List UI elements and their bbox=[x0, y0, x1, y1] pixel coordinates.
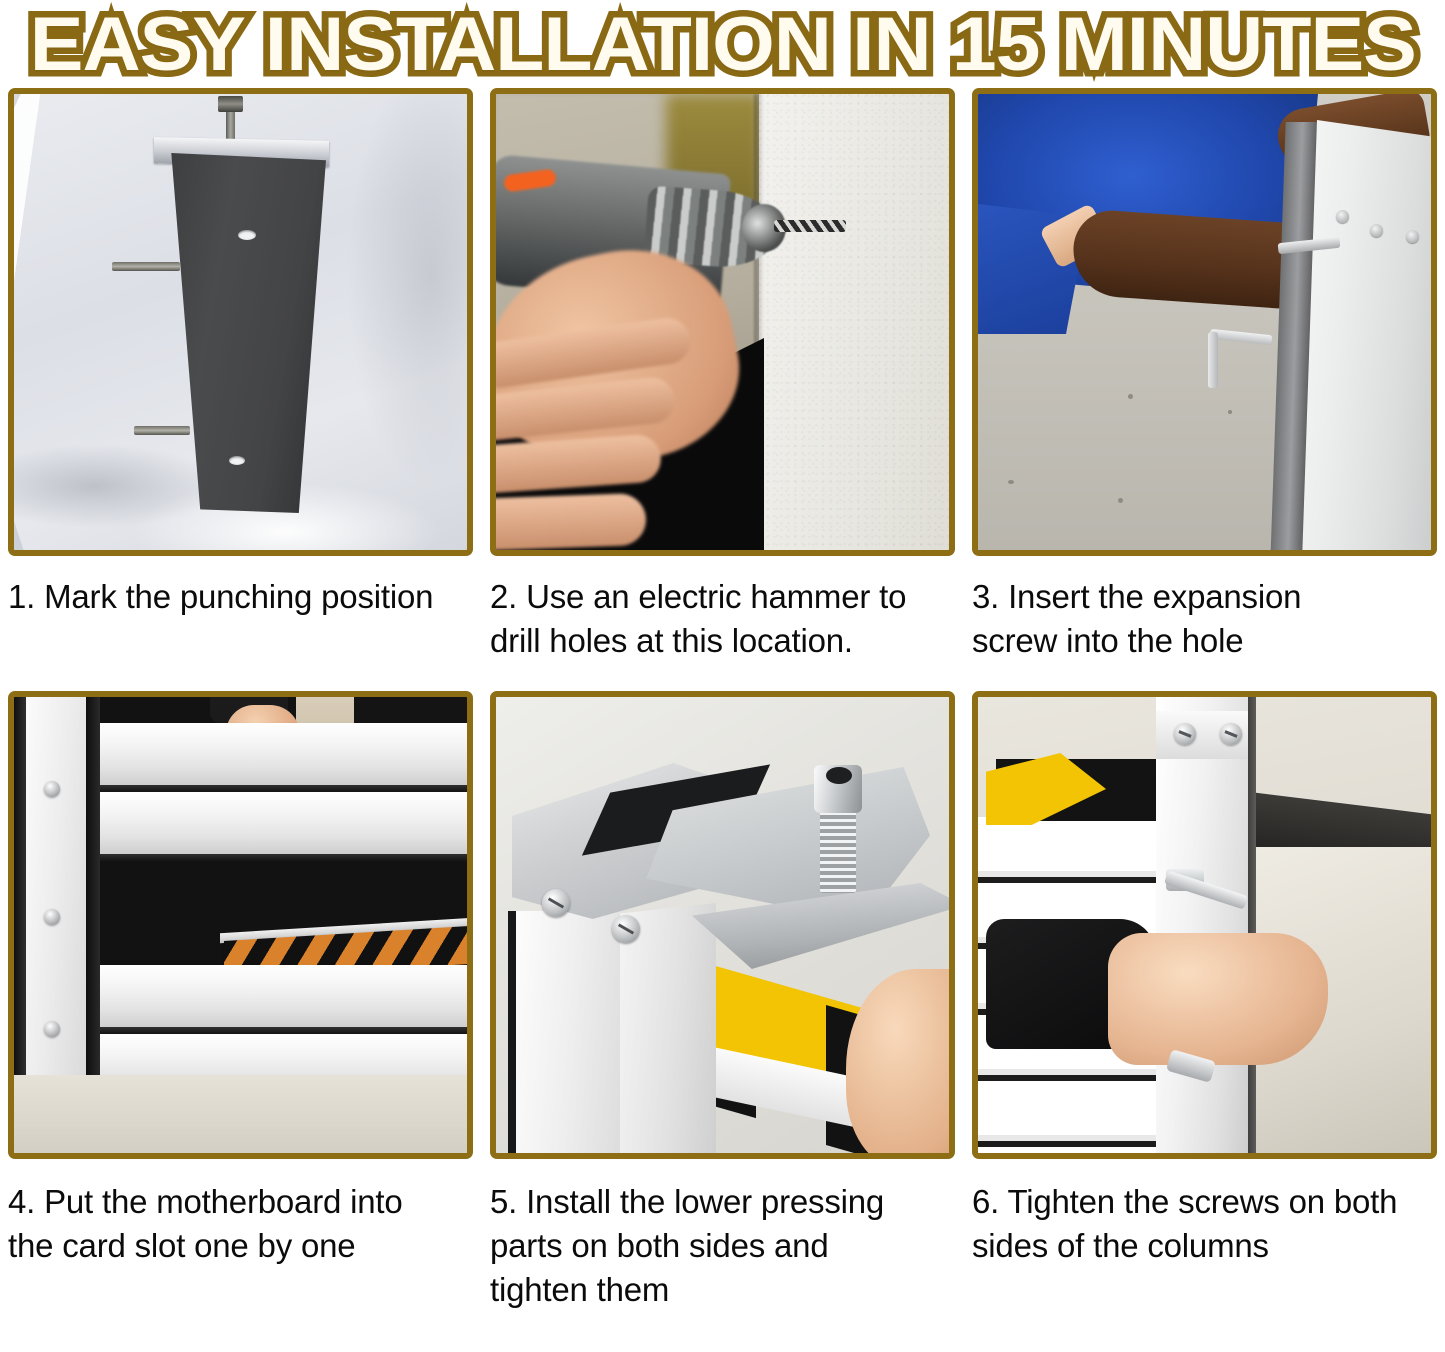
column-screw bbox=[1406, 230, 1419, 243]
board-gap-line bbox=[92, 854, 467, 861]
step-card-6: 6. Tighten the screws on both sides of t… bbox=[972, 691, 1437, 1312]
barrier-board bbox=[92, 723, 467, 785]
step-card-3: 3. Insert the expansion screw into the h… bbox=[972, 88, 1437, 663]
column-screw bbox=[1220, 723, 1242, 745]
nut-icon bbox=[218, 96, 243, 112]
step-caption-5: 5. Install the lower pressing parts on b… bbox=[490, 1180, 955, 1312]
hand-finger-4 bbox=[496, 493, 647, 550]
board-gap-line bbox=[92, 1027, 467, 1034]
step-photo-3-expansion-screw bbox=[978, 94, 1431, 550]
column-groove bbox=[508, 911, 516, 1153]
steps-grid: 1. Mark the punching position bbox=[0, 88, 1445, 1312]
step-photo-6-tighten-screws bbox=[978, 697, 1431, 1153]
template-hole-lower bbox=[229, 456, 245, 465]
step-card-2: 2. Use an electric hammer to drill holes… bbox=[490, 88, 955, 663]
bolt-socket-hole bbox=[826, 767, 852, 784]
column-screw bbox=[1370, 224, 1383, 237]
hand-tightening bbox=[1108, 933, 1328, 1065]
step-photo-frame-4 bbox=[8, 691, 473, 1159]
bolt-thread bbox=[820, 805, 856, 893]
header-banner: EASY INSTALLATION IN 15 MINUTES bbox=[0, 0, 1445, 88]
steps-row-bottom: 4. Put the motherboard into the card slo… bbox=[8, 691, 1437, 1312]
column-screw bbox=[1174, 723, 1196, 745]
step-card-5: 5. Install the lower pressing parts on b… bbox=[490, 691, 955, 1312]
step-photo-2-drilling bbox=[496, 94, 949, 550]
floor bbox=[14, 1075, 467, 1153]
step-photo-frame-1 bbox=[8, 88, 473, 556]
board-gap-line bbox=[92, 785, 467, 792]
page-title: EASY INSTALLATION IN 15 MINUTES bbox=[29, 7, 1415, 83]
column-card-slot bbox=[86, 697, 100, 1127]
step-card-1: 1. Mark the punching position bbox=[8, 88, 473, 663]
step-photo-4-boards-in-slot bbox=[14, 697, 467, 1153]
worker-arm bbox=[1070, 208, 1305, 310]
column-screw bbox=[44, 781, 60, 797]
row-spacer bbox=[8, 663, 1437, 691]
white-column-front bbox=[514, 911, 622, 1153]
drill-bit-icon bbox=[774, 220, 846, 232]
white-column-left bbox=[26, 697, 94, 1127]
template-hole-upper bbox=[238, 230, 256, 240]
step-photo-frame-3 bbox=[972, 88, 1437, 556]
step-caption-2: 2. Use an electric hammer to drill holes… bbox=[490, 575, 955, 663]
column-screw bbox=[1336, 210, 1349, 223]
step-caption-6: 6. Tighten the screws on both sides of t… bbox=[972, 1180, 1437, 1268]
white-column-side bbox=[620, 903, 716, 1153]
column-screw bbox=[44, 1021, 60, 1037]
bolt-lower bbox=[134, 426, 190, 435]
barrier-board bbox=[92, 965, 467, 1027]
step-photo-1-marking-template bbox=[14, 94, 467, 550]
step-caption-3: 3. Insert the expansion screw into the h… bbox=[972, 575, 1437, 663]
ground-speck bbox=[1128, 394, 1133, 399]
white-column bbox=[1156, 697, 1248, 1153]
step-caption-1: 1. Mark the punching position bbox=[8, 575, 473, 619]
bracket-screw bbox=[542, 889, 570, 917]
step-photo-5-pressing-bracket bbox=[496, 697, 949, 1153]
ground-speck bbox=[1118, 498, 1123, 503]
step-photo-frame-2 bbox=[490, 88, 955, 556]
textured-wall bbox=[759, 94, 949, 550]
ground-speck bbox=[1008, 480, 1014, 484]
allen-key-short-arm bbox=[1208, 332, 1218, 388]
barrier-board bbox=[92, 792, 467, 854]
ground-speck bbox=[1228, 410, 1232, 414]
step-caption-4: 4. Put the motherboard into the card slo… bbox=[8, 1180, 473, 1268]
steps-row-top: 1. Mark the punching position bbox=[8, 88, 1437, 663]
column-screw bbox=[44, 909, 60, 925]
step-photo-frame-6 bbox=[972, 691, 1437, 1159]
bracket-screw bbox=[612, 915, 640, 943]
step-photo-frame-5 bbox=[490, 691, 955, 1159]
step-card-4: 4. Put the motherboard into the card slo… bbox=[8, 691, 473, 1312]
bolt-upper bbox=[112, 262, 180, 271]
